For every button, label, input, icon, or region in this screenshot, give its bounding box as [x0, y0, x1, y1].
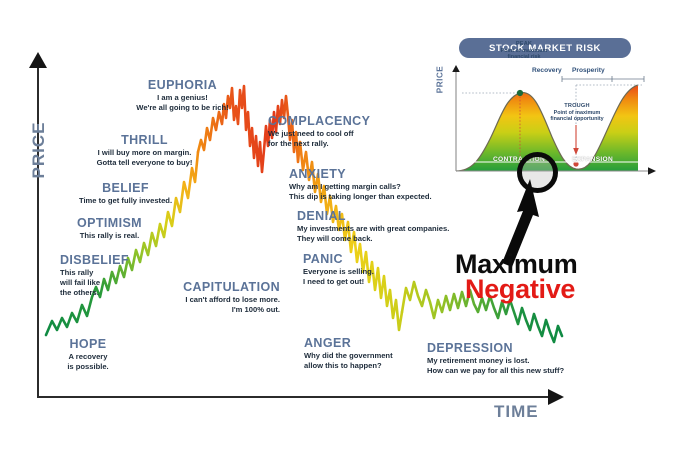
annotation-optimism: OPTIMISM This rally is real.	[52, 216, 167, 241]
annotation-denial: DENIAL My investments are with great com…	[297, 209, 477, 244]
annotation-panic: PANIC Everyone is selling. I need to get…	[303, 252, 453, 287]
annotation-euphoria-line-1: I am a genius!	[115, 93, 250, 103]
annotation-depression-title: DEPRESSION	[427, 341, 627, 355]
annotation-depression-line-2: How can we pay for all this new stuff?	[427, 366, 627, 376]
annotation-capitulation-title: CAPITULATION	[150, 280, 280, 294]
inset-trough-annotation: TROUGH Point of maximum financial opport…	[532, 103, 622, 123]
annotation-belief-line-1: Time to get fully invested.	[63, 196, 188, 206]
annotation-denial-line-1: My investments are with great companies.	[297, 224, 477, 234]
annotation-denial-line-2: They will come back.	[297, 234, 477, 244]
infographic-canvas: PRICE TIME	[0, 0, 679, 451]
annotation-complacency-line-2: for the next rally.	[268, 139, 418, 149]
annotation-hope-title: HOPE	[48, 337, 128, 351]
annotation-denial-title: DENIAL	[297, 209, 477, 223]
inset-phase-recovery: Recovery	[532, 67, 562, 74]
price-axis-label: PRICE	[29, 105, 49, 195]
annotation-optimism-line-1: This rally is real.	[52, 231, 167, 241]
annotation-disbelief-title: DISBELIEF	[60, 253, 150, 267]
annotation-thrill: THRILL I will buy more on margin. Gotta …	[77, 133, 212, 168]
annotation-euphoria-line-2: We're all going to be rich!	[115, 103, 250, 113]
inset-trough-title: TROUGH	[532, 103, 622, 110]
annotation-panic-title: PANIC	[303, 252, 453, 266]
annotation-euphoria-title: EUPHORIA	[115, 78, 250, 92]
inset-trough-line-2: financial opportunity	[532, 116, 622, 122]
annotation-hope-line-2: is possible.	[48, 362, 128, 372]
annotation-disbelief-line-1: This rally	[60, 268, 150, 278]
inset-cycle-expansion: EXPANSION	[572, 156, 613, 163]
inset-phase-prosperity: Prosperity	[572, 67, 605, 74]
annotation-thrill-line-1: I will buy more on margin.	[77, 148, 212, 158]
callout-line-2: Negative	[465, 274, 575, 305]
annotation-complacency-title: COMPLACENCY	[268, 114, 418, 128]
time-axis-label: TIME	[494, 402, 539, 422]
annotation-panic-line-1: Everyone is selling.	[303, 267, 453, 277]
time-axis-line	[37, 396, 551, 398]
annotation-optimism-title: OPTIMISM	[52, 216, 167, 230]
annotation-disbelief-line-3: the others.	[60, 288, 150, 298]
annotation-capitulation-line-1: I can't afford to lose more.	[150, 295, 280, 305]
annotation-complacency: COMPLACENCY We just need to cool off for…	[268, 114, 418, 149]
annotation-disbelief-line-2: will fail like	[60, 278, 150, 288]
annotation-depression: DEPRESSION My retirement money is lost. …	[427, 341, 627, 376]
annotation-euphoria: EUPHORIA I am a genius! We're all going …	[115, 78, 250, 113]
time-axis-arrowhead	[548, 389, 564, 405]
annotation-depression-line-1: My retirement money is lost.	[427, 356, 627, 366]
annotation-capitulation-line-2: I'm 100% out.	[150, 305, 280, 315]
inset-peak-annotation: PEAK Point of maximum financial risk	[478, 41, 570, 61]
annotation-hope-line-1: A recovery	[48, 352, 128, 362]
annotation-complacency-line-1: We just need to cool off	[268, 129, 418, 139]
annotation-hope: HOPE A recovery is possible.	[48, 337, 128, 372]
annotation-thrill-line-2: Gotta tell everyone to buy!	[77, 158, 212, 168]
annotation-panic-line-2: I need to get out!	[303, 277, 453, 287]
annotation-belief-title: BELIEF	[63, 181, 188, 195]
annotation-thrill-title: THRILL	[77, 133, 212, 147]
inset-peak-line-2: financial risk	[478, 54, 570, 60]
annotation-belief: BELIEF Time to get fully invested.	[63, 181, 188, 206]
annotation-capitulation: CAPITULATION I can't afford to lose more…	[150, 280, 280, 315]
price-axis-arrowhead	[29, 52, 47, 68]
inset-peak-title: PEAK	[478, 41, 570, 48]
annotation-disbelief: DISBELIEF This rally will fail like the …	[60, 253, 150, 298]
